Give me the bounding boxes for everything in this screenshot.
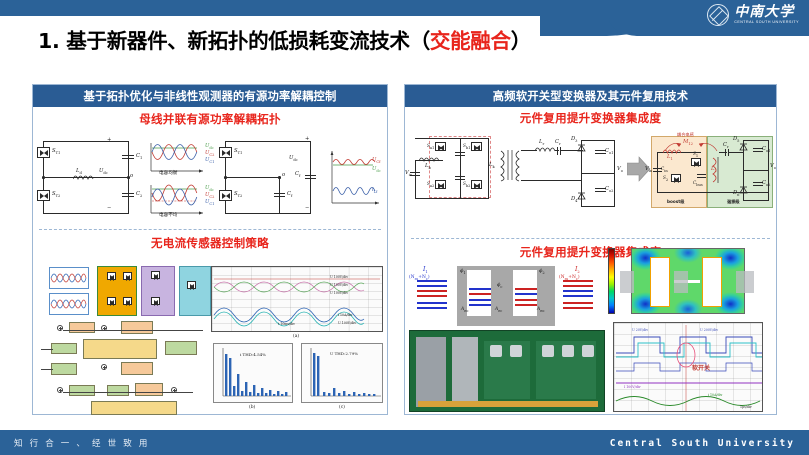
inductor-ld-icon [73, 174, 95, 180]
fem-colorbar-icon [608, 248, 615, 314]
left-panel: 基于拓扑优化与非线性观测器的有源功率解耦控制 母线并联有源功率解耦拓扑 ST1 … [32, 84, 388, 415]
figure-label-c: (c) [339, 405, 345, 410]
right-panel-body: 元件复用提升变换器集成度 Vin Lb Sa1 [405, 110, 776, 418]
left-panel-header: 基于拓扑优化与非线性观测器的有源功率解耦控制 [33, 85, 387, 107]
slide-footer: 知 行 合 一 、 经 世 致 用 Central South Universi… [0, 431, 809, 455]
footer-university-name: Central South University [610, 438, 795, 449]
pcb-prototype-photo [409, 330, 605, 412]
right-subtitle-1: 元件复用提升变换器集成度 [405, 110, 776, 126]
magnetics-and-results-figure: I1 (Nss+Nc) I2 (Nss+Nc) ϕ1 ϕ2 ϕc Aeo Aec… [405, 244, 776, 416]
thd-chart-uo: U THD:2.79% [301, 343, 383, 403]
page-title: 1. 基于新器件、新拓扑的低损耗变流技术（交能融合） [38, 24, 531, 54]
soft-switching-scope: 软开关 U 20V/div U 200V/div I 100V/div i 10… [613, 322, 763, 412]
transformer-icon [497, 148, 523, 182]
diode-d3-icon [577, 144, 586, 152]
figure-label-b: (b) [249, 405, 255, 410]
csu-logo-cn: 中南大学 [734, 5, 799, 19]
page-title-main: 1. 基于新器件、新拓扑的低损耗变流技术（ [38, 29, 430, 53]
left-panel-body: 母线并联有源功率解耦拓扑 ST1 ST2 C [33, 111, 387, 419]
thd-chart-is: i THD:4.54% [213, 343, 293, 403]
inductor-lb-icon [419, 156, 439, 162]
fem-field-plot [631, 248, 745, 314]
diode-d5-icon [739, 143, 748, 151]
left-topology-figure: ST1 ST2 C1 C2 Ld Udc o + − [33, 133, 387, 225]
csu-logo: 中南大学 CENTRAL SOUTH UNIVERSITY [707, 4, 799, 26]
csu-seal-icon [707, 4, 729, 26]
csu-logo-text: 中南大学 CENTRAL SOUTH UNIVERSITY [734, 5, 799, 25]
page-title-accent: 交能融合 [430, 29, 511, 53]
experimental-waveform-plot: U 100V/div U 100V/div U 100V/div i 10A/d… [211, 266, 383, 332]
left-panel-divider [39, 229, 381, 230]
right-topology-figure: Vin Lb Sa1 Sa2 Sb1 Sb2 Lk [405, 130, 776, 230]
right-panel: 高频软开关型变换器及其元件复用技术 元件复用提升变换器集成度 Vin Lb [404, 84, 777, 415]
right-panel-divider [411, 238, 770, 239]
csu-logo-en: CENTRAL SOUTH UNIVERSITY [734, 21, 799, 25]
left-subtitle-1: 母线并联有源功率解耦拓扑 [33, 111, 387, 127]
footer-motto: 知 行 合 一 、 经 世 致 用 [14, 437, 150, 449]
inductor-lr-icon [535, 146, 555, 152]
right-panel-header: 高频软开关型变换器及其元件复用技术 [405, 85, 776, 107]
page-title-tail: ） [511, 29, 531, 53]
figure-label-a: (a) [293, 334, 299, 339]
magnetic-core-diagram: I1 (Nss+Nc) I2 (Nss+Nc) ϕ1 ϕ2 ϕc Aeo Aec… [409, 266, 605, 328]
diode-d6-icon [739, 186, 748, 194]
left-subtitle-2: 无电流传感器控制策略 [33, 235, 387, 251]
diode-d4-icon [577, 192, 586, 200]
sensorless-control-figure: U 100V/div U 100V/div U 100V/div i 10A/d… [35, 263, 387, 417]
